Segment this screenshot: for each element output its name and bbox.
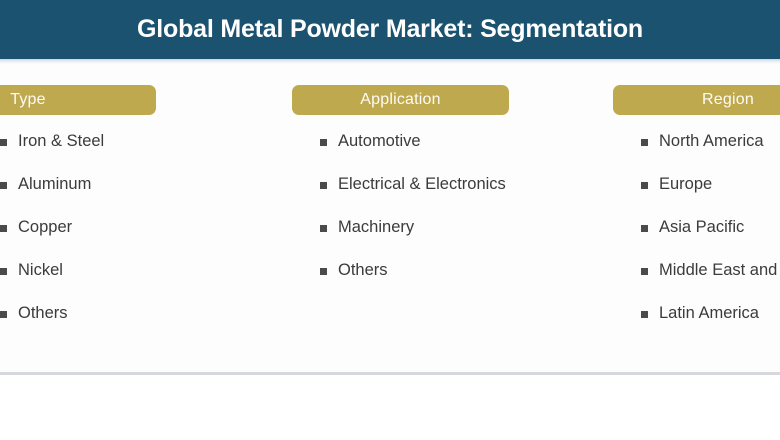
- list-item-label: Middle East and Africa: [659, 260, 780, 280]
- square-bullet-icon: [320, 139, 327, 146]
- segment-column-type: Type Iron & Steel Aluminum Copper Nicke: [0, 64, 156, 346]
- segment-list-application: Automotive Electrical & Electronics Mach…: [292, 131, 509, 303]
- segment-header-type: Type: [0, 85, 156, 115]
- list-item-label: Electrical & Electronics: [338, 174, 506, 194]
- segment-header-label: Application: [360, 91, 440, 109]
- list-item: Asia Pacific: [613, 217, 780, 260]
- list-item-label: Nickel: [18, 260, 63, 280]
- list-item: Latin America: [613, 303, 780, 346]
- list-item: Middle East and Africa: [613, 260, 780, 303]
- segment-header-label: Type: [10, 91, 46, 109]
- square-bullet-icon: [641, 139, 648, 146]
- list-item-label: Machinery: [338, 217, 414, 237]
- square-bullet-icon: [641, 182, 648, 189]
- list-item-label: North America: [659, 131, 764, 151]
- segment-header-region: Region: [613, 85, 780, 115]
- infographic-root: Global Metal Powder Market: Segmentation…: [0, 0, 780, 440]
- list-item: Others: [292, 260, 509, 303]
- list-item: Copper: [0, 217, 156, 260]
- segment-header-application: Application: [292, 85, 509, 115]
- list-item: North America: [613, 131, 780, 174]
- list-item-label: Others: [18, 303, 68, 323]
- segment-list-type: Iron & Steel Aluminum Copper Nickel Othe…: [0, 131, 156, 346]
- list-item-label: Automotive: [338, 131, 421, 151]
- list-item-label: Others: [338, 260, 388, 280]
- list-item: Iron & Steel: [0, 131, 156, 174]
- page-title: Global Metal Powder Market: Segmentation: [137, 15, 643, 44]
- square-bullet-icon: [0, 268, 7, 275]
- title-bar: Global Metal Powder Market: Segmentation: [0, 0, 780, 59]
- square-bullet-icon: [641, 311, 648, 318]
- square-bullet-icon: [320, 182, 327, 189]
- square-bullet-icon: [641, 268, 648, 275]
- list-item-label: Europe: [659, 174, 712, 194]
- segment-column-application: Application Automotive Electrical & Elec…: [292, 64, 509, 303]
- square-bullet-icon: [320, 268, 327, 275]
- list-item: Electrical & Electronics: [292, 174, 509, 217]
- list-item: Nickel: [0, 260, 156, 303]
- list-item-label: Asia Pacific: [659, 217, 744, 237]
- square-bullet-icon: [320, 225, 327, 232]
- square-bullet-icon: [641, 225, 648, 232]
- segment-list-region: North America Europe Asia Pacific Middle…: [613, 131, 780, 346]
- square-bullet-icon: [0, 225, 7, 232]
- segment-header-label: Region: [702, 91, 754, 109]
- list-item-label: Aluminum: [18, 174, 91, 194]
- square-bullet-icon: [0, 139, 7, 146]
- square-bullet-icon: [0, 182, 7, 189]
- footer: Transparency Market Research In-depth An…: [0, 375, 780, 440]
- segmentation-columns: Type Iron & Steel Aluminum Copper Nicke: [0, 64, 780, 369]
- list-item: Europe: [613, 174, 780, 217]
- list-item-label: Iron & Steel: [18, 131, 104, 151]
- list-item: Others: [0, 303, 156, 346]
- list-item: Automotive: [292, 131, 509, 174]
- segment-column-region: Region North America Europe Asia Pacific: [613, 64, 780, 346]
- list-item: Aluminum: [0, 174, 156, 217]
- square-bullet-icon: [0, 311, 7, 318]
- list-item-label: Latin America: [659, 303, 759, 323]
- list-item: Machinery: [292, 217, 509, 260]
- list-item-label: Copper: [18, 217, 72, 237]
